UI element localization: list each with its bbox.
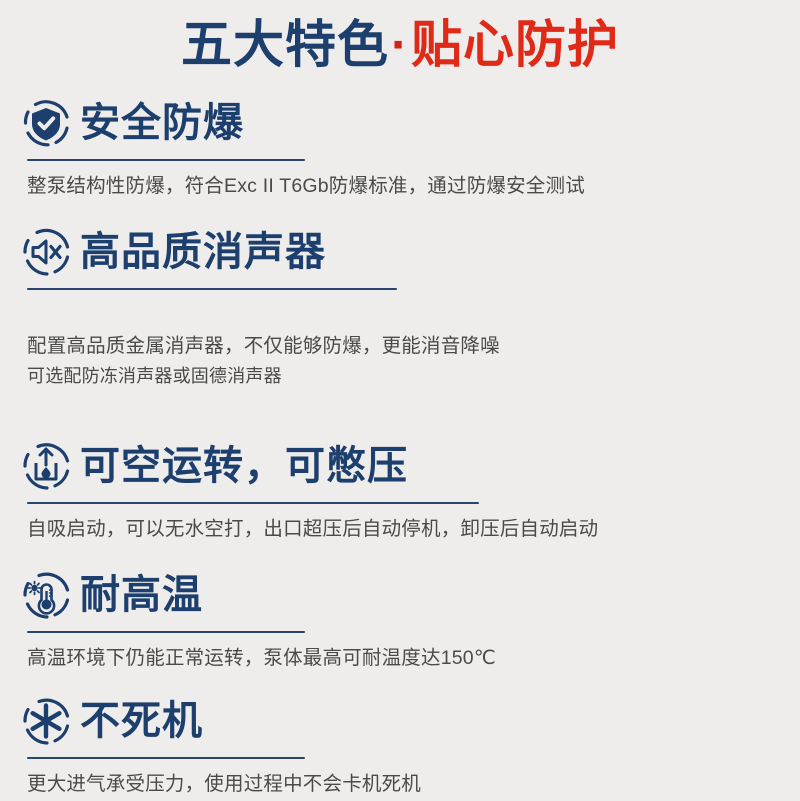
feature-body: 配置高品质金属消声器，不仅能够防爆，更能消音降噪 可选配防冻消声器或固德消声器 — [27, 300, 800, 422]
feature-divider — [27, 288, 397, 290]
feature-item-dry-run-pressure-hold: 可空运转，可憋压 自吸启动，可以无水空打，出口超压后自动停机，卸压后自动启动 — [0, 437, 800, 546]
feature-title: 高品质消声器 — [80, 232, 326, 272]
feature-body: 自吸启动，可以无水空打，出口超压后自动停机，卸压后自动启动 — [27, 514, 800, 546]
feature-title: 可空运转，可憋压 — [80, 446, 408, 486]
feature-title: 不死机 — [80, 701, 203, 741]
features-list: 安全防爆 整泵结构性防爆，符合Exc II T6Gb防爆标准，通过防爆安全测试 — [0, 94, 800, 801]
feature-item-high-temperature-resistant: 耐高温 高温环境下仍能正常运转，泵体最高可耐温度达150℃ — [0, 566, 800, 675]
feature-body-line2: 可选配防冻消声器或固德消声器 — [27, 363, 800, 390]
pressure-box-arrow-icon — [18, 438, 74, 494]
feature-divider — [27, 631, 305, 633]
feature-item-safety-explosion-proof: 安全防爆 整泵结构性防爆，符合Exc II T6Gb防爆标准，通过防爆安全测试 — [0, 94, 800, 203]
shield-check-icon — [18, 95, 74, 151]
feature-body: 更大进气承受压力，使用过程中不会卡机死机 — [27, 769, 800, 801]
page-title-navy: 五大特色 — [181, 16, 389, 73]
feature-list-page: 五大特色·贴心防护 安全防爆 整泵结构性防 — [0, 0, 800, 800]
feature-body: 整泵结构性防爆，符合Exc II T6Gb防爆标准，通过防爆安全测试 — [27, 171, 800, 203]
feature-body: 高温环境下仍能正常运转，泵体最高可耐温度达150℃ — [27, 643, 800, 675]
speaker-mute-icon — [18, 224, 74, 280]
feature-divider — [27, 159, 305, 161]
feature-divider — [27, 757, 305, 759]
feature-divider — [27, 502, 479, 504]
page-title-red: 贴心防护 — [411, 16, 619, 73]
feature-title: 耐高温 — [80, 575, 203, 615]
thermometer-sun-icon — [18, 567, 74, 623]
feature-item-no-stall: 不死机 更大进气承受压力，使用过程中不会卡机死机 — [0, 692, 800, 801]
feature-body-line1: 配置高品质金属消声器，不仅能够防爆，更能消音降噪 — [27, 335, 500, 357]
asterisk-snowflake-icon — [18, 693, 74, 749]
page-title-separator: · — [389, 16, 411, 73]
page-title: 五大特色·贴心防护 — [0, 0, 800, 78]
feature-title: 安全防爆 — [80, 103, 244, 143]
feature-item-high-quality-muffler: 高品质消声器 配置高品质金属消声器，不仅能够防爆，更能消音降噪 可选配防冻消声器… — [0, 223, 800, 422]
